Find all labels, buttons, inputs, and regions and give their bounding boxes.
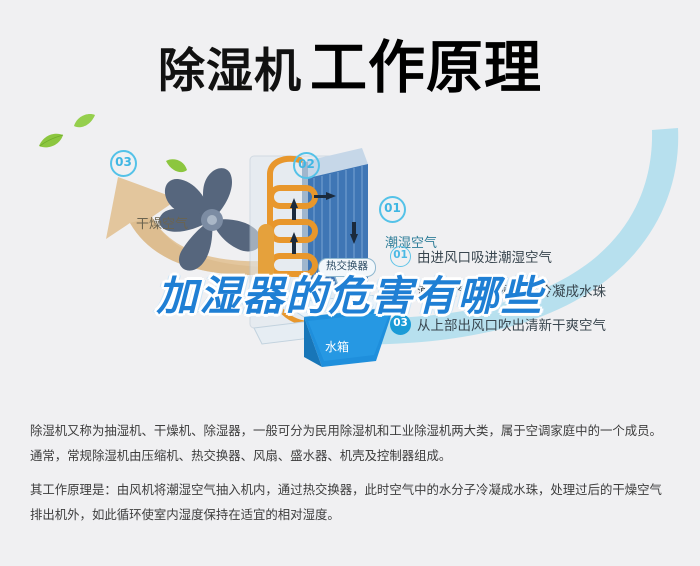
page-title-part1: 除湿机	[158, 44, 302, 99]
overlay-headline: 加湿器的危害有哪些	[0, 262, 700, 322]
paragraph-2-line-2: 排出机外，如此循环使室内湿度保持在适宜的相对湿度。	[30, 504, 675, 525]
diagram-badge-03: 03	[110, 150, 137, 177]
paragraph-1-line-1: 除湿机又称为抽湿机、干燥机、除湿器，一般可分为民用除湿机和工业除湿机两大类，属于…	[30, 420, 675, 441]
page-title: 除湿机工作原理	[0, 22, 700, 104]
water-tank-label: 水箱	[325, 338, 349, 355]
body-copy: 除湿机又称为抽湿机、干燥机、除湿器，一般可分为民用除湿机和工业除湿机两大类，属于…	[30, 420, 675, 529]
infographic-page: 除湿机工作原理	[0, 0, 700, 566]
leaf-icon	[38, 132, 64, 150]
diagram-badge-01: 01	[379, 196, 406, 223]
dry-air-label: 干燥空气	[136, 213, 188, 232]
paragraph-1-line-2: 通常，常规除湿机由压缩机、热交换器、风扇、盛水器、机壳及控制器组成。	[30, 445, 675, 466]
paragraph-spacer	[30, 470, 675, 479]
diagram-badge-02: 02	[293, 152, 320, 179]
paragraph-2-line-1: 其工作原理是：由风机将潮湿空气抽入机内，通过热交换器，此时空气中的水分子冷凝成水…	[30, 479, 675, 500]
leaf-icon	[74, 113, 96, 129]
page-title-part2: 工作原理	[310, 35, 542, 101]
